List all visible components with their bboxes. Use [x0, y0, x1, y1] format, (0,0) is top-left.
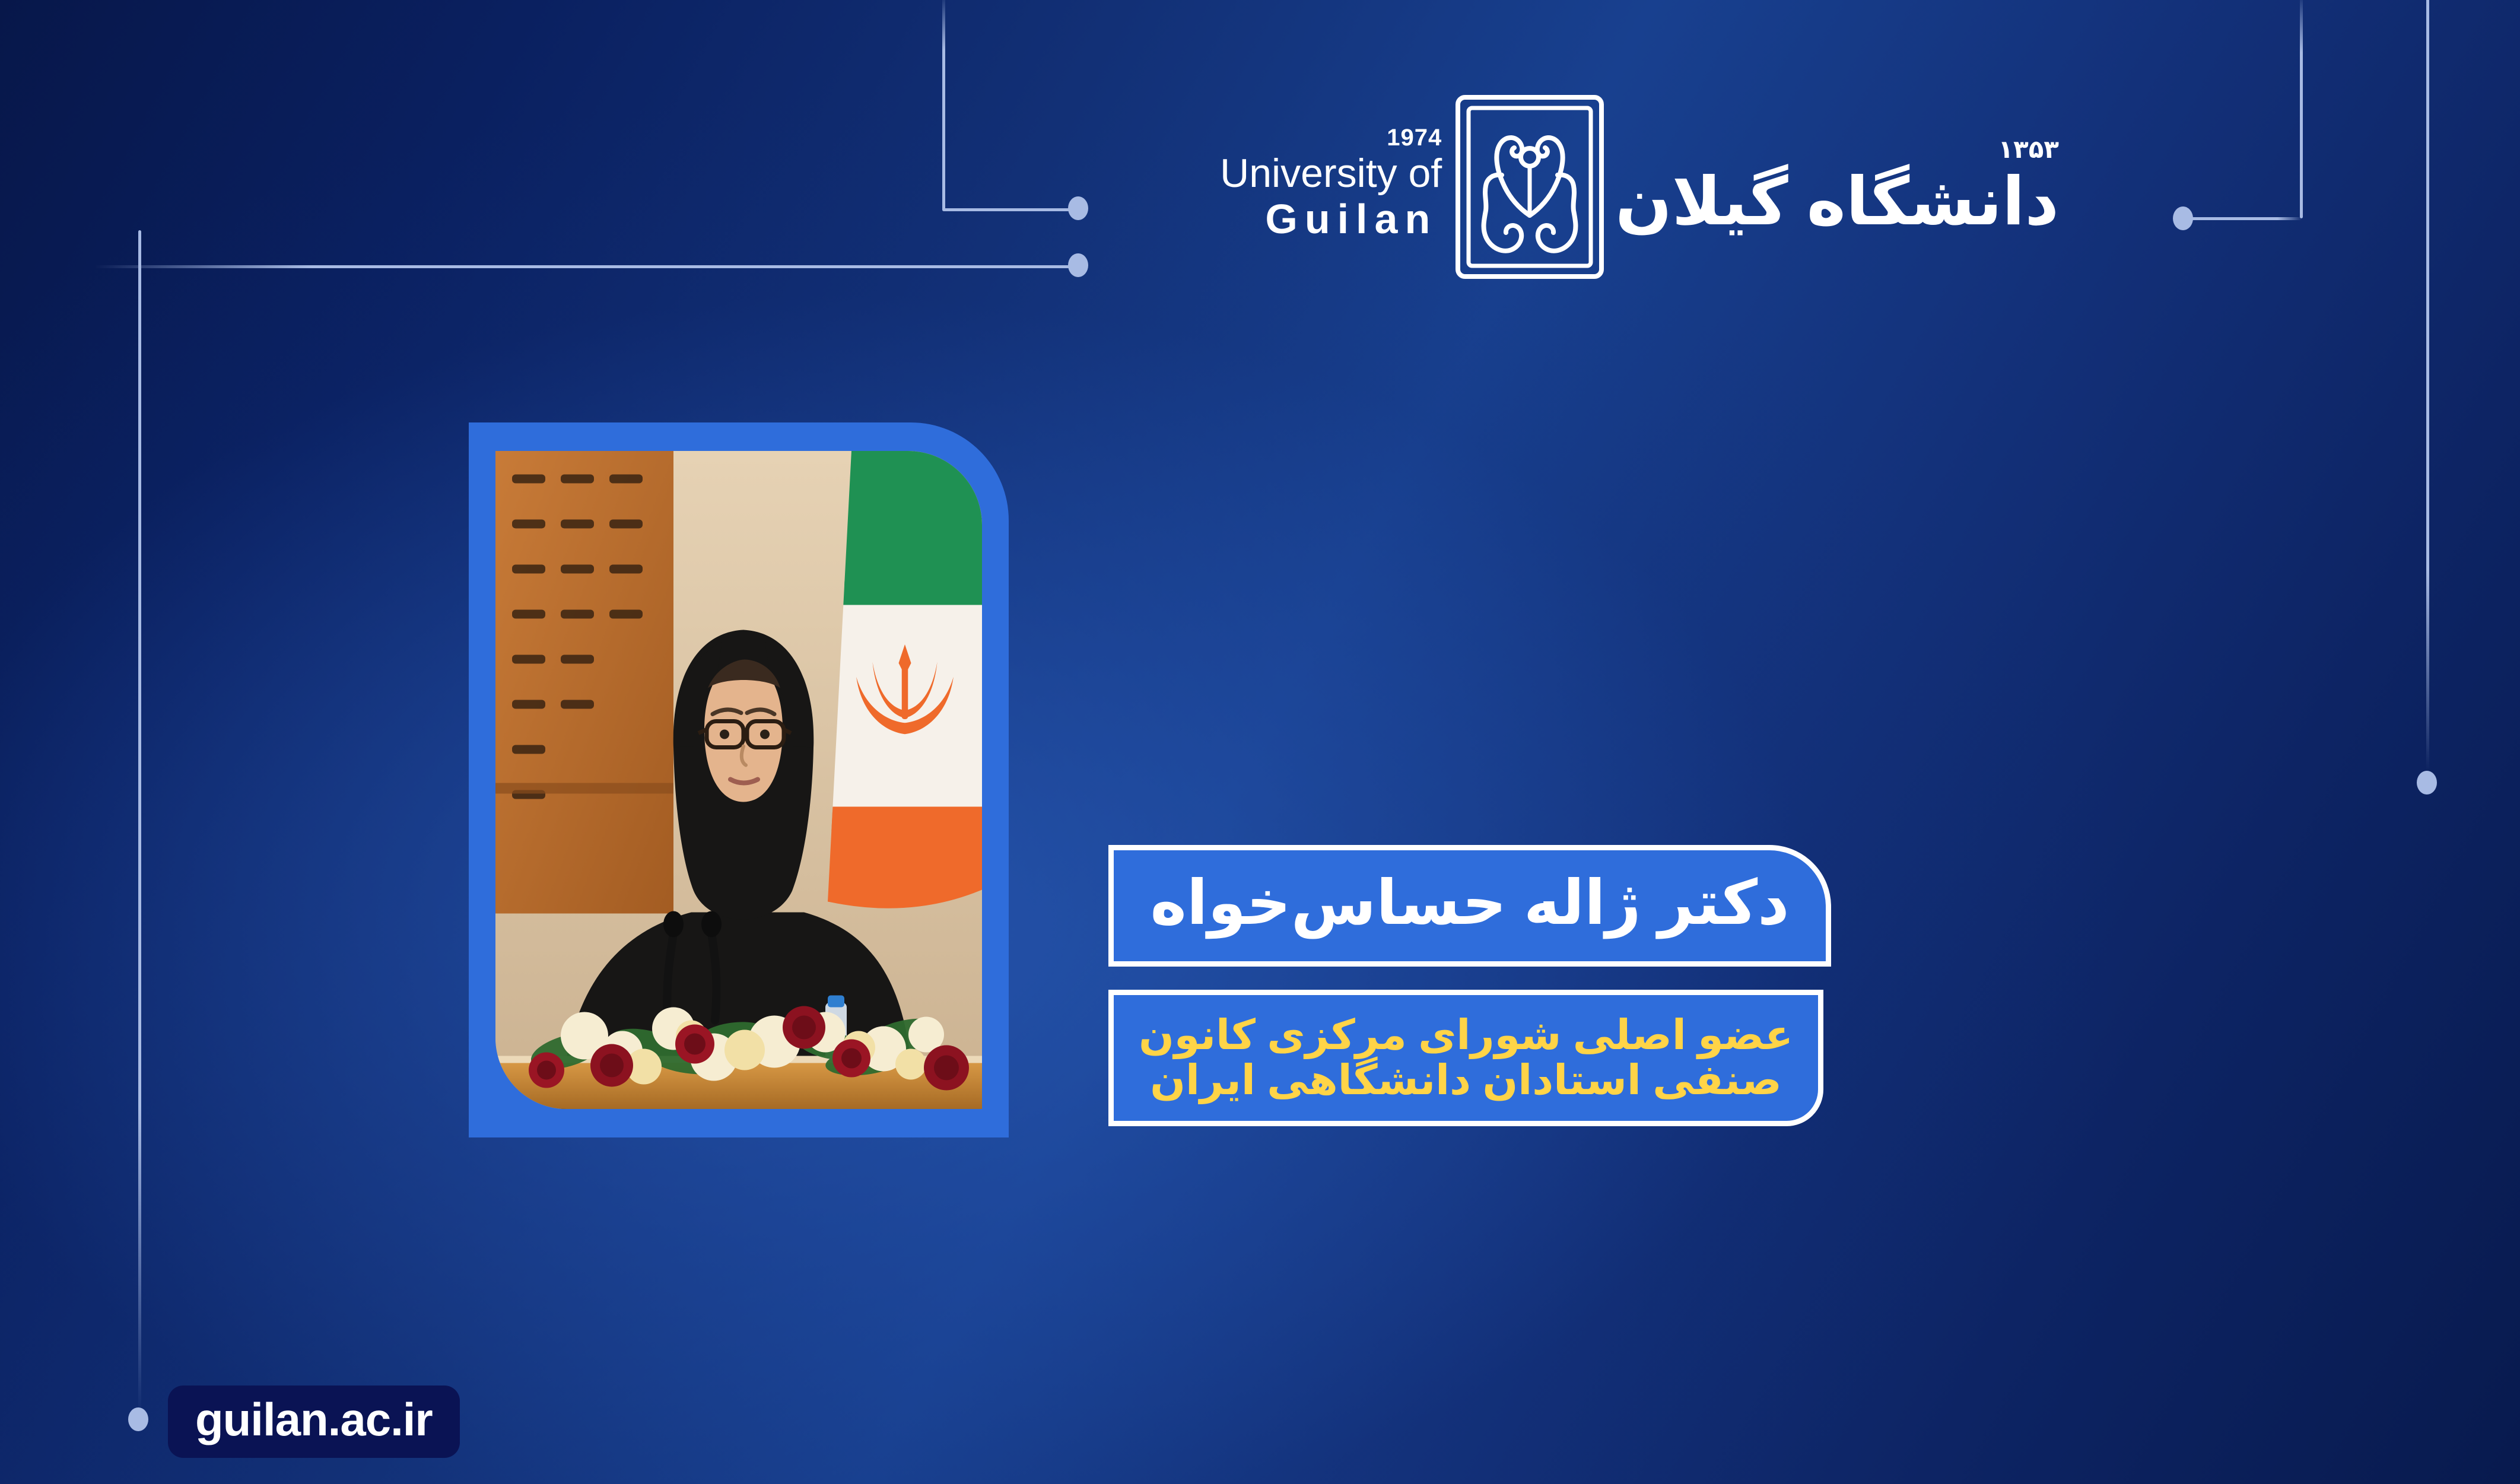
deco-line-far-right-vertical [2426, 0, 2429, 771]
deco-line-top-horizontal [942, 208, 1082, 211]
speaker-role-banner: عضو اصلی شورای مرکزی کانون صنفی استادان … [1108, 990, 1823, 1126]
logo-persian-block: ۱۳۵۳ دانشگاه گیلان [1615, 137, 2059, 237]
logo-guilan-text: Guilan [1265, 194, 1442, 244]
logo-persian-name: دانشگاه گیلان [1615, 167, 2059, 237]
deco-line-top-vertical [942, 0, 945, 211]
deco-line-right-upper-vertical [2300, 0, 2303, 218]
deco-dot-right-upper [2173, 206, 2193, 230]
deco-line-upper-rule [95, 265, 1083, 268]
deco-dot-right-lower [2417, 771, 2437, 795]
university-logo-lockup: 1974 University of Guilan ۱۳۵۳ دانشگاه گ… [1216, 89, 2059, 285]
deco-line-right-horizontal [2189, 217, 2302, 220]
logo-university-of-text: University of [1220, 153, 1442, 194]
speaker-role-line-1: عضو اصلی شورای مرکزی کانون [1139, 1013, 1793, 1058]
logo-year-gregorian: 1974 [1387, 126, 1442, 150]
portrait-illustration [495, 451, 982, 1109]
guilan-university-emblem-icon [1453, 92, 1607, 282]
announcement-card: 1974 University of Guilan ۱۳۵۳ دانشگاه گ… [0, 0, 2520, 1484]
speaker-name-text: دکتر ژاله حساس‌خواه [1151, 872, 1790, 940]
logo-year-persian: ۱۳۵۳ [1998, 137, 2059, 162]
website-url-text: guilan.ac.ir [195, 1396, 433, 1442]
deco-dot-top-left-upper [1068, 196, 1088, 220]
logo-english-block: 1974 University of Guilan [1220, 126, 1442, 249]
speaker-role-line-2: صنفی استادان دانشگاهی ایران [1150, 1058, 1781, 1103]
deco-line-left-vertical [138, 230, 141, 1414]
website-badge[interactable]: guilan.ac.ir [168, 1386, 460, 1458]
deco-dot-bottom-left [128, 1407, 148, 1431]
deco-dot-top-left-lower [1068, 253, 1088, 277]
speaker-name-banner: دکتر ژاله حساس‌خواه [1108, 845, 1831, 967]
portrait-frame [469, 422, 1009, 1137]
portrait-photo [495, 451, 982, 1109]
